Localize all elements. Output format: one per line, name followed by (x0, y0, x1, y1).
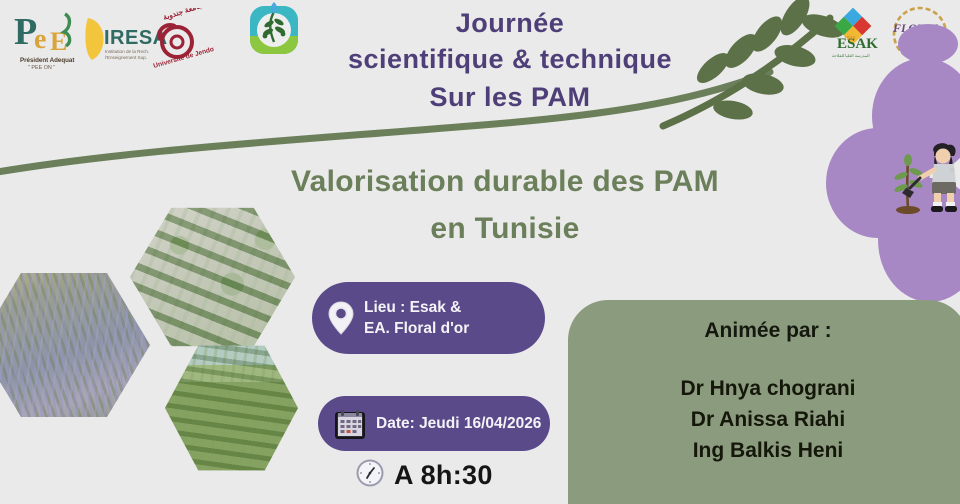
photo-collage (0, 200, 310, 490)
location-pill: Lieu : Esak & EA. Floral d'or (312, 282, 545, 354)
time-row: A 8h:30 (355, 458, 493, 493)
gardener-illustration (886, 136, 960, 216)
date-pill: Date: Jeudi 16/04/2026 (318, 396, 550, 451)
date-text: Date: Jeudi 16/04/2026 (376, 413, 541, 434)
cultivated-rows-photo (130, 205, 295, 349)
subtitle-line-2: en Tunisie (245, 205, 765, 252)
presenters-panel: Animée par : Dr Hnya chograni Dr Anissa … (568, 300, 960, 504)
presenter-name: Dr Anissa Riahi (568, 404, 960, 435)
location-text: Lieu : Esak & EA. Floral d'or (364, 297, 469, 339)
poster-heading: Journée scientifique & technique Sur les… (300, 6, 720, 116)
poster-canvas: P e E Président Adequat " PEE ON " IRESA… (0, 0, 960, 504)
time-text: A 8h:30 (394, 460, 493, 491)
svg-text:" PEE ON ": " PEE ON " (28, 65, 55, 71)
presenter-name: Dr Hnya chograni (568, 373, 960, 404)
heading-line-2: scientifique & technique (300, 40, 720, 78)
svg-text:جامعة جندوبة: جامعة جندوبة (162, 8, 205, 23)
location-line-2: EA. Floral d'or (364, 320, 469, 337)
green-crop-field-photo (165, 343, 298, 473)
location-line-1: Lieu : Esak & (364, 299, 461, 316)
clock-icon (355, 458, 385, 493)
esak-logo: ESAK 1974 المدرسة العليا للفلاحة (824, 4, 882, 64)
calendar-icon (334, 408, 366, 440)
presenters-list: Dr Hnya chograni Dr Anissa Riahi Ing Bal… (568, 373, 960, 466)
svg-text:Président Adequat: Président Adequat (20, 57, 74, 64)
presenters-heading: Animée par : (568, 316, 960, 346)
university-jendouba-logo: جامعة جندوبة Université de Jendouba (140, 8, 214, 74)
svg-text:1974: 1974 (844, 36, 855, 42)
poster-subtitle: Valorisation durable des PAM en Tunisie (245, 158, 765, 252)
heading-line-1: Journée (300, 6, 720, 40)
map-pin-icon (328, 301, 354, 335)
svg-text:e: e (34, 24, 46, 55)
heading-line-3: Sur les PAM (300, 78, 720, 116)
subtitle-line-1: Valorisation durable des PAM (245, 158, 765, 205)
purple-flower-decoration (832, 58, 960, 328)
presenter-name: Ing Balkis Heni (568, 435, 960, 466)
lavender-field-photo (0, 270, 150, 420)
